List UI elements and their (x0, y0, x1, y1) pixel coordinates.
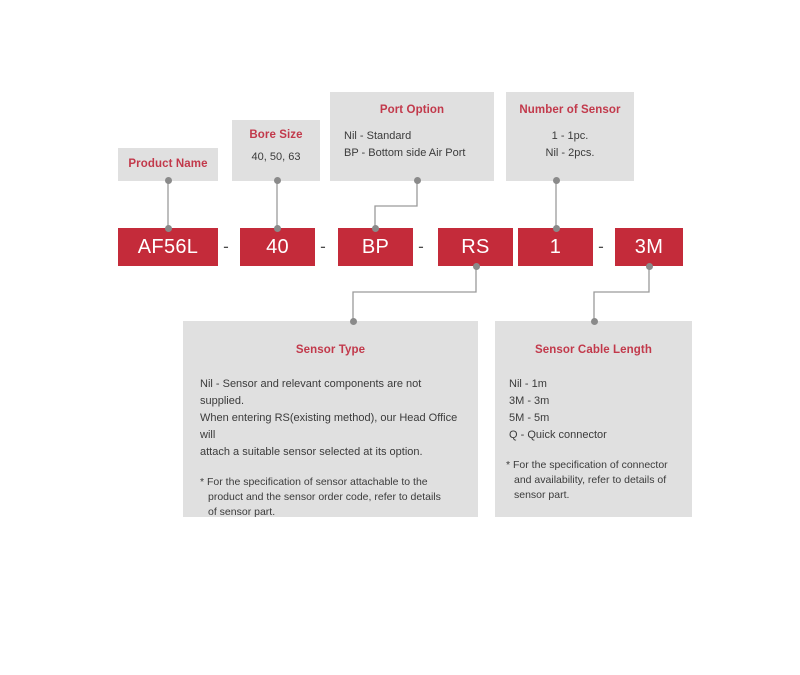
connector-dot-1 (553, 225, 560, 232)
connector-dot-sensor-type-box (350, 318, 357, 325)
callout-port-option-title: Port Option (330, 104, 494, 116)
code-segment-number-of-sensor[interactable]: 1 (518, 228, 593, 266)
connector-dot-number-of-sensor (553, 177, 560, 184)
code-separator: - (414, 228, 428, 266)
connector-dot-product-name (165, 177, 172, 184)
callout-sensor-cable-length-note: * For the specification of connector and… (495, 458, 692, 503)
code-segment-port-option[interactable]: BP (338, 228, 413, 266)
callout-sensor-type: Sensor Type Nil - Sensor and relevant co… (183, 321, 478, 517)
code-separator: - (594, 228, 608, 266)
leader-sensor-cable-length (594, 266, 649, 321)
callout-number-of-sensor-options: 1 - 1pc. Nil - 2pcs. (506, 128, 634, 162)
code-separator: - (316, 228, 330, 266)
callout-bore-size-body: 40, 50, 63 (232, 149, 320, 166)
callout-number-of-sensor-title: Number of Sensor (506, 104, 634, 116)
callout-port-option: Port Option Nil - Standard BP - Bottom s… (330, 92, 494, 181)
code-segment-sensor-type[interactable]: RS (438, 228, 513, 266)
connector-dot-cable-length-box (591, 318, 598, 325)
note-line: of sensor part. (200, 505, 466, 520)
option-item: BP - Bottom side Air Port (344, 145, 494, 162)
code-segment-bore-size[interactable]: 40 (240, 228, 315, 266)
note-line-first: * For the specification of sensor attach… (200, 475, 466, 490)
connector-dot-bp (372, 225, 379, 232)
callout-sensor-cable-length-title: Sensor Cable Length (495, 344, 692, 356)
body-line: Nil - Sensor and relevant components are… (200, 376, 466, 410)
option-item: 1 - 1pc. (506, 128, 634, 145)
option-item: 3M - 3m (509, 393, 692, 410)
note-marker: * (506, 459, 510, 471)
note-line-first: * For the specification of connector (506, 458, 682, 473)
leader-port-option (375, 181, 417, 228)
code-segment-sensor-cable-length[interactable]: 3M (615, 228, 683, 266)
note-line: For the specification of sensor attachab… (207, 476, 428, 488)
connector-dot-3m (646, 263, 653, 270)
note-line: product and the sensor order code, refer… (200, 490, 466, 505)
note-marker: * (200, 476, 204, 488)
connector-dot-af56l (165, 225, 172, 232)
callout-bore-size: Bore Size 40, 50, 63 (232, 120, 320, 181)
note-line: sensor part. (506, 488, 682, 503)
callout-port-option-options: Nil - Standard BP - Bottom side Air Port (330, 128, 494, 162)
note-line: For the specification of connector (513, 459, 668, 471)
callout-sensor-type-note: * For the specification of sensor attach… (183, 475, 478, 520)
option-item: Q - Quick connector (509, 427, 692, 444)
connector-dot-rs (473, 263, 480, 270)
model-number-diagram: Product Name Bore Size 40, 50, 63 Port O… (0, 0, 800, 675)
leader-sensor-type (353, 266, 476, 321)
callout-sensor-cable-length: Sensor Cable Length Nil - 1m 3M - 3m 5M … (495, 321, 692, 517)
option-item: Nil - 1m (509, 376, 692, 393)
note-line: and availability, refer to details of (506, 473, 682, 488)
option-item: 5M - 5m (509, 410, 692, 427)
callout-sensor-type-body: Nil - Sensor and relevant components are… (183, 376, 478, 461)
option-item: Nil - Standard (344, 128, 494, 145)
body-line: attach a suitable sensor selected at its… (200, 444, 466, 461)
callout-sensor-type-title: Sensor Type (183, 344, 478, 356)
connector-dot-port-option (414, 177, 421, 184)
code-separator: - (219, 228, 233, 266)
connector-dot-40 (274, 225, 281, 232)
option-item: Nil - 2pcs. (506, 145, 634, 162)
callout-sensor-cable-length-options: Nil - 1m 3M - 3m 5M - 5m Q - Quick conne… (495, 376, 692, 444)
callout-number-of-sensor: Number of Sensor 1 - 1pc. Nil - 2pcs. (506, 92, 634, 181)
body-line: When entering RS(existing method), our H… (200, 410, 466, 444)
callout-bore-size-title: Bore Size (232, 129, 320, 141)
code-segment-product-name[interactable]: AF56L (118, 228, 218, 266)
connector-dot-bore-size (274, 177, 281, 184)
